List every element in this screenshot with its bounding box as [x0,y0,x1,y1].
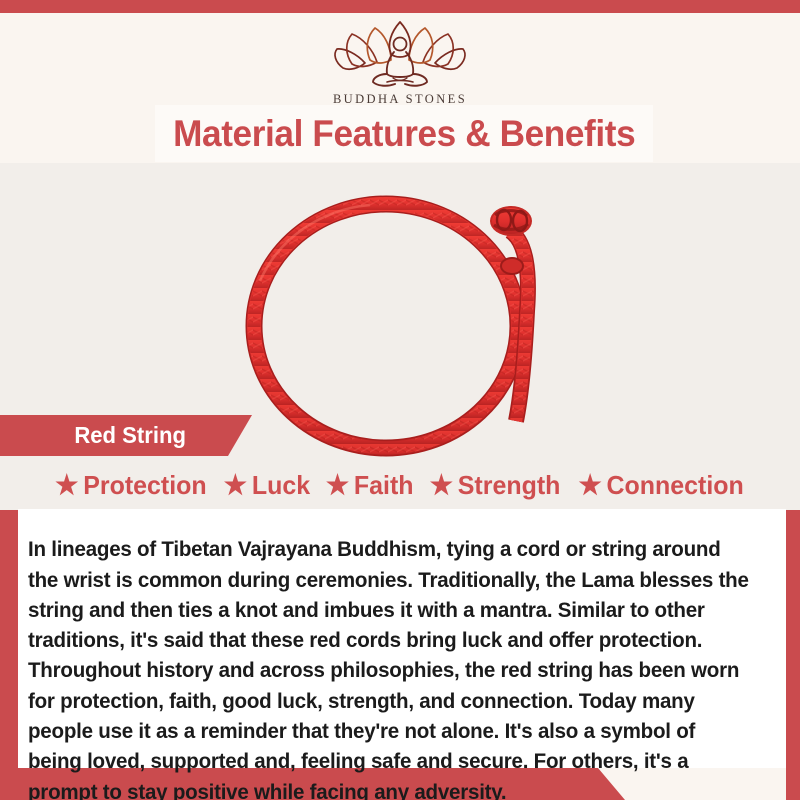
infographic-page: BUDDHA STONES Material Features & Benefi… [0,0,800,800]
material-name-ribbon: Red String [0,415,252,456]
feature-list: ★ Protection ★ Luck ★ Faith ★ Strength ★… [0,463,800,508]
brand-logo: BUDDHA STONES [0,18,800,107]
star-icon: ★ [326,472,349,499]
page-title: Material Features & Benefits [173,113,635,155]
product-hero [0,163,800,510]
feature-label: Luck [252,470,310,501]
description-paragraph: In lineages of Tibetan Vajrayana Buddhis… [28,534,750,800]
page-title-band: Material Features & Benefits [155,105,653,162]
star-icon: ★ [579,472,602,499]
description-panel: In lineages of Tibetan Vajrayana Buddhis… [18,509,786,768]
red-braided-string-bracelet-image [190,171,610,471]
feature-item-protection: ★ Protection [55,470,206,501]
feature-label: Connection [607,470,744,501]
feature-item-luck: ★ Luck [224,470,310,501]
feature-label: Protection [84,470,207,501]
feature-item-connection: ★ Connection [579,470,744,501]
lotus-meditation-logo-icon [325,18,475,90]
star-icon: ★ [55,472,78,499]
top-accent-bar [0,0,800,13]
star-icon: ★ [224,472,247,499]
feature-label: Strength [458,470,561,501]
feature-label: Faith [354,470,414,501]
star-icon: ★ [430,472,453,499]
feature-item-strength: ★ Strength [430,470,561,501]
feature-item-faith: ★ Faith [326,470,414,501]
material-name-label: Red String [74,422,186,449]
